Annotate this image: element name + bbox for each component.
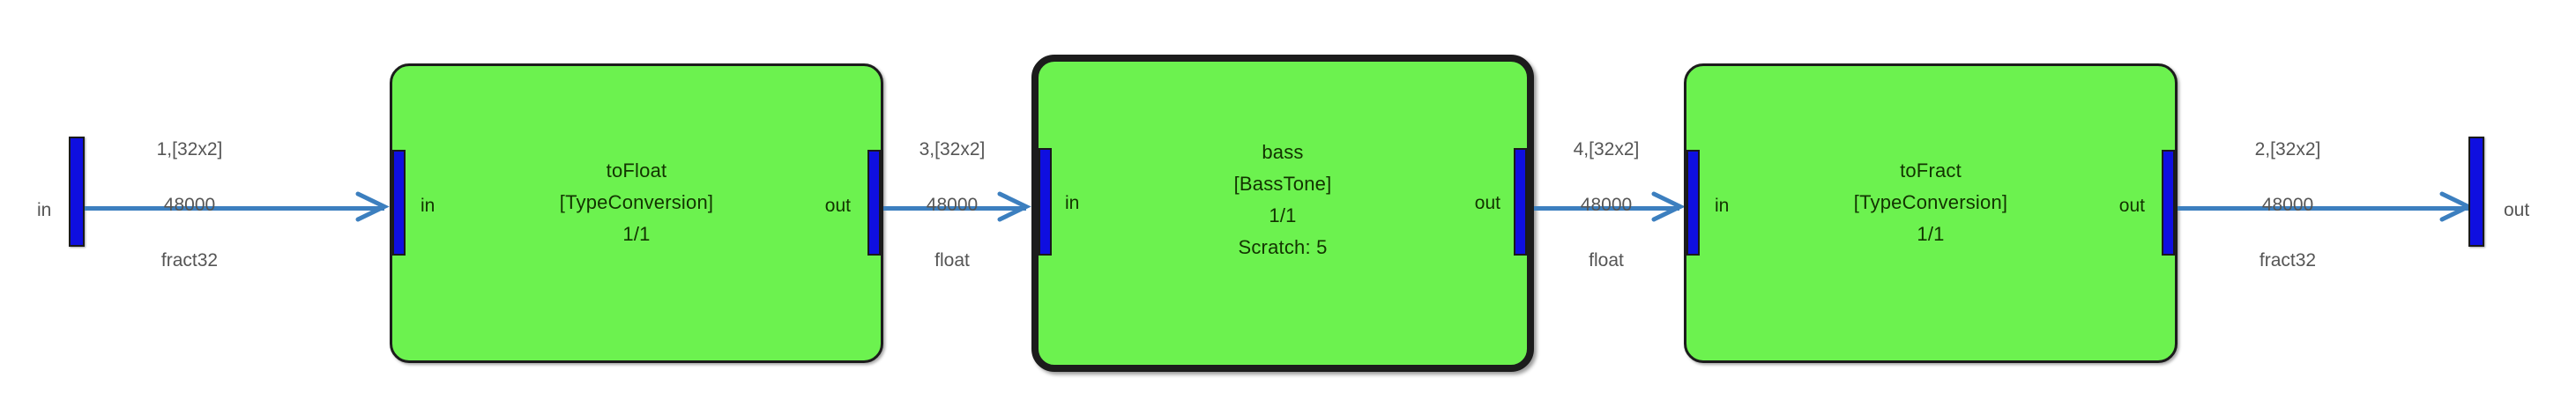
connection-4-label: 4,[32x2] 48000 float <box>1536 108 1677 302</box>
block-bass-name: bass <box>1039 138 1527 166</box>
block-bass[interactable]: in out bass [BassTone] 1/1 Scratch: 5 <box>1031 55 1534 372</box>
output-terminal-label: out <box>2504 201 2529 219</box>
connection-3-index: 3,[32x2] <box>882 136 1023 164</box>
connection-1-datatype: fract32 <box>79 247 300 275</box>
block-tofract-name: toFract <box>1686 157 2175 184</box>
block-bass-extra: Scratch: 5 <box>1039 234 1527 261</box>
block-tofract-rate: 1/1 <box>1686 220 2175 248</box>
block-bass-rate: 1/1 <box>1039 202 1527 229</box>
block-diagram-canvas: in 1,[32x2] 48000 fract32 in out toFloat… <box>0 0 2576 393</box>
block-tofract[interactable]: in out toFract [TypeConversion] 1/1 <box>1684 63 2178 363</box>
connection-3-rate: 48000 <box>882 191 1023 219</box>
connection-3-datatype: float <box>882 247 1023 275</box>
connection-2-arrowhead <box>2438 190 2468 226</box>
connection-2-index: 2,[32x2] <box>2178 136 2398 164</box>
connection-1-label: 1,[32x2] 48000 fract32 <box>79 108 300 302</box>
input-terminal-label: in <box>37 201 51 219</box>
connection-3-label: 3,[32x2] 48000 float <box>882 108 1023 302</box>
block-bass-type: [BassTone] <box>1039 170 1527 197</box>
block-tofloat-rate: 1/1 <box>392 220 881 248</box>
block-tofract-type: [TypeConversion] <box>1686 189 2175 216</box>
connection-4-rate: 48000 <box>1536 191 1677 219</box>
connection-2-label: 2,[32x2] 48000 fract32 <box>2178 108 2398 302</box>
connection-4-datatype: float <box>1536 247 1677 275</box>
connection-1-arrowhead <box>354 190 384 226</box>
block-tofloat-name: toFloat <box>392 157 881 184</box>
connection-2-datatype: fract32 <box>2178 247 2398 275</box>
connection-1-index: 1,[32x2] <box>79 136 300 164</box>
output-terminal[interactable] <box>2468 137 2484 247</box>
block-tofloat[interactable]: in out toFloat [TypeConversion] 1/1 <box>390 63 883 363</box>
block-tofloat-type: [TypeConversion] <box>392 189 881 216</box>
connection-2-rate: 48000 <box>2178 191 2398 219</box>
connection-1-rate: 48000 <box>79 191 300 219</box>
connection-4-index: 4,[32x2] <box>1536 136 1677 164</box>
